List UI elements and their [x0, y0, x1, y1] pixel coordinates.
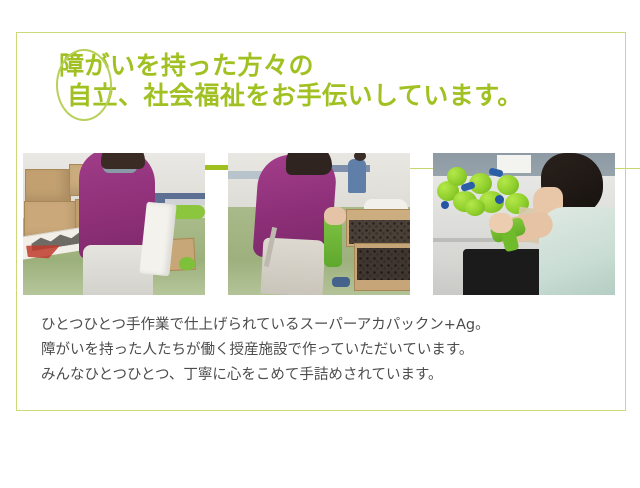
photo-3-blue-part — [441, 201, 449, 209]
photo-3-product-pile — [435, 165, 531, 211]
heading-block: 障がいを持った方々の 自立、社会福祉をお手伝いしています。 — [41, 51, 621, 111]
photo-strip — [23, 153, 621, 295]
photo-worker-filling-container — [228, 153, 410, 295]
photo-3-blue-part — [495, 195, 504, 204]
body-copy-line-3: みんなひとつひとつ、丁寧に心をこめて手詰めされています。 — [41, 363, 611, 388]
heading-line-1: 障がいを持った方々の — [41, 51, 621, 81]
photo-worker-assembling-products — [433, 153, 615, 295]
photo-3-green-product — [465, 199, 485, 216]
body-copy-line-1: ひとつひとつ手作業で仕上げられているスーパーアカパックン+Ag。 — [41, 313, 611, 338]
photo-worker-packing-bags — [23, 153, 205, 295]
photo-3-worker-hand — [489, 213, 513, 233]
photo-2-worker-head — [286, 153, 332, 175]
photo-2-carton-lower — [354, 243, 410, 291]
photo-1-green-item — [179, 257, 195, 270]
photo-3-green-product — [497, 175, 519, 195]
photo-2-worker-hand — [324, 207, 346, 225]
photo-1-scene — [23, 153, 205, 295]
photo-3-blue-cap — [488, 167, 503, 177]
photo-3-scene — [433, 153, 615, 295]
photo-2-carton-upper — [346, 209, 410, 247]
decorative-frame: 障がいを持った方々の 自立、社会福祉をお手伝いしています。 — [16, 32, 626, 411]
photo-1-carton — [25, 169, 71, 205]
photo-2-blue-parts — [332, 277, 350, 287]
body-copy-line-2: 障がいを持った人たちが働く授産施設で作っていただいています。 — [41, 338, 611, 363]
photo-2-background-person — [348, 159, 366, 193]
photo-2-scene — [228, 153, 410, 295]
heading-line-2: 自立、社会福祉をお手伝いしています。 — [41, 81, 621, 111]
photo-1-worker-head — [101, 153, 145, 169]
body-copy: ひとつひとつ手作業で仕上げられているスーパーアカパックン+Ag。 障がいを持った… — [41, 313, 611, 388]
